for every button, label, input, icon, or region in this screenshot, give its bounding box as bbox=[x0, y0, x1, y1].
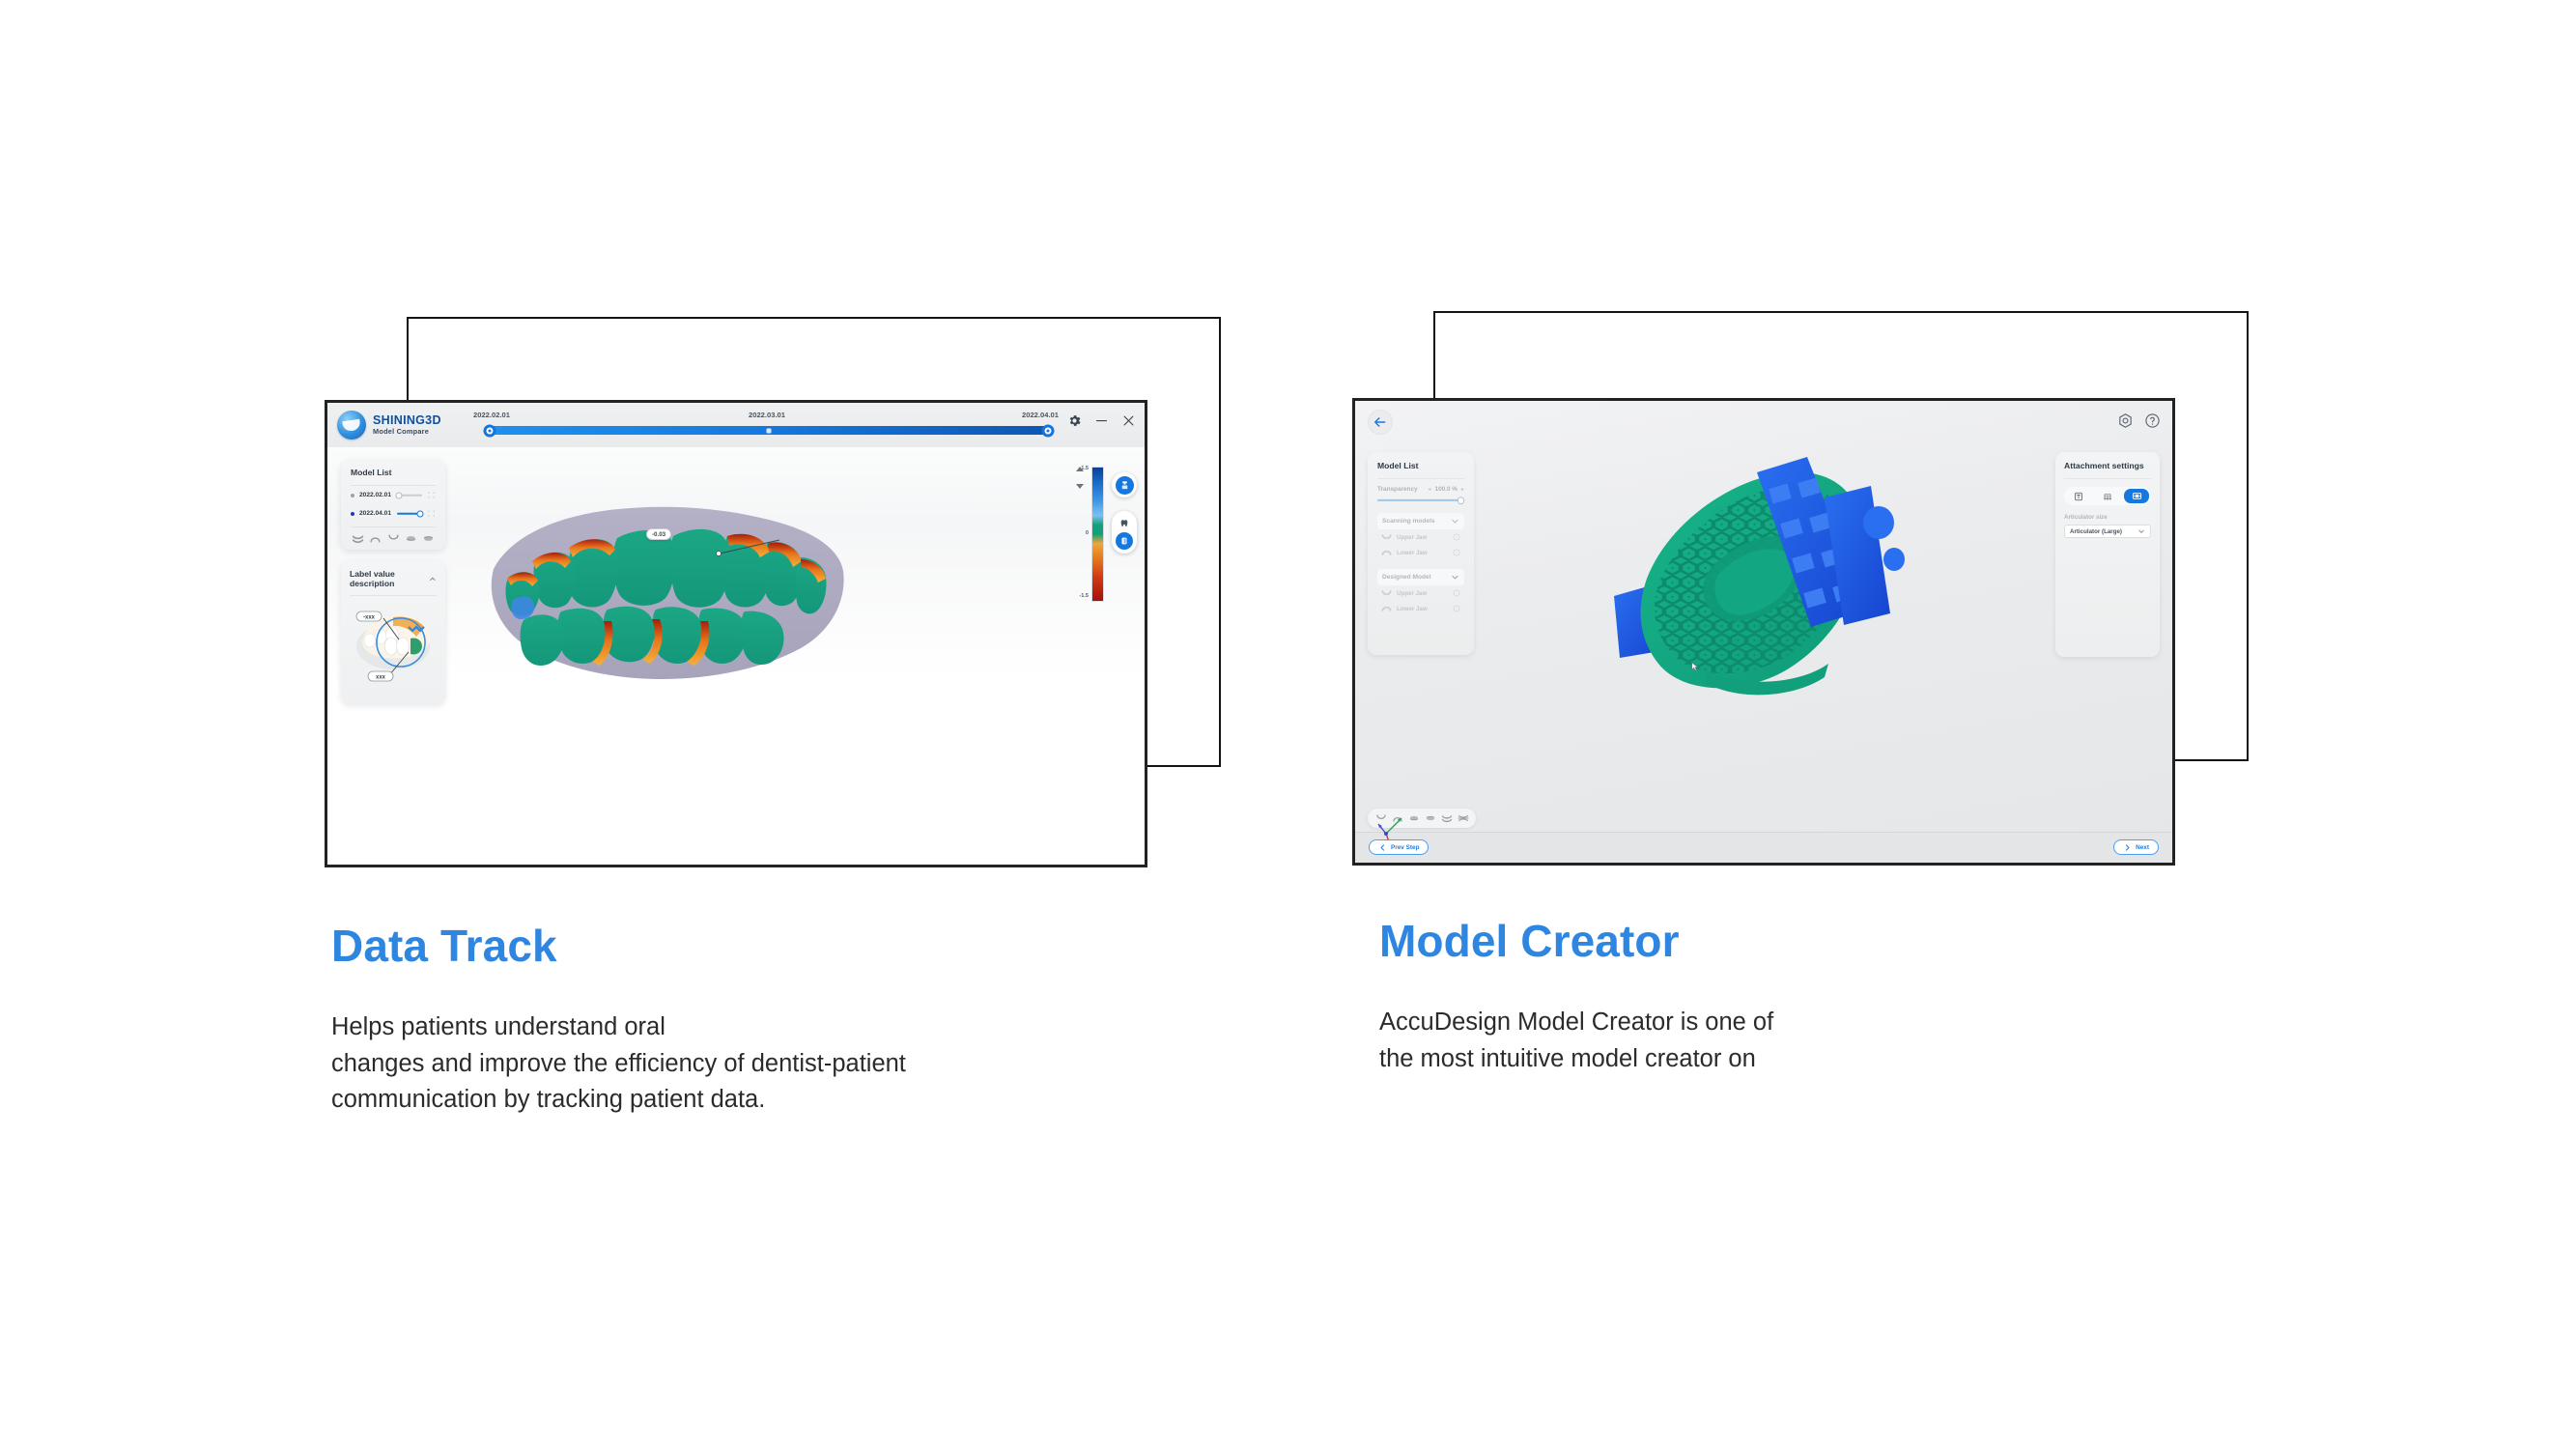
timeline-start-handle[interactable] bbox=[484, 424, 496, 437]
model-creator-viewport: Model List Transparency ◂ 100.0 % ▸ Scan… bbox=[1355, 401, 2172, 863]
both-jaws-icon[interactable] bbox=[352, 533, 364, 544]
description-text: AccuDesign Model Creator is one of the m… bbox=[1379, 1005, 2113, 1077]
measurement-value-tag: -0.03 bbox=[646, 528, 671, 540]
split-view-icon[interactable] bbox=[1458, 813, 1469, 823]
app-viewport: -0.03 Model List 2022.02.01 2022.04.01 bbox=[327, 447, 1145, 865]
timeline-labels: 2022.02.01 2022.03.01 2022.04.01 bbox=[472, 411, 1062, 422]
visibility-icon[interactable] bbox=[1453, 549, 1460, 556]
transparency-label: Transparency bbox=[1377, 486, 1418, 493]
prev-step-label: Prev Step bbox=[1391, 844, 1419, 851]
group-name: Scanning models bbox=[1382, 518, 1435, 525]
transparency-slider[interactable] bbox=[1377, 497, 1464, 504]
tooth-shade-button[interactable] bbox=[1116, 515, 1133, 532]
base-grid-button[interactable] bbox=[2095, 489, 2120, 503]
colorbar-mid-label: 0 bbox=[1086, 530, 1089, 536]
close-icon[interactable] bbox=[1120, 412, 1137, 429]
articulator-icon bbox=[2132, 491, 2142, 501]
brand-name: SHINING3D bbox=[373, 414, 441, 427]
list-item[interactable]: Lower Jaw bbox=[1377, 545, 1464, 560]
base-grid-icon bbox=[2103, 492, 2112, 501]
tooth-compare-icon bbox=[1119, 536, 1129, 546]
back-arrow-icon bbox=[1373, 415, 1387, 429]
app-title-bar: SHINING3D Model Compare 2022.02.01 2022.… bbox=[327, 403, 1145, 447]
top-right-icons bbox=[2117, 412, 2161, 429]
upper-jaw-icon bbox=[1381, 533, 1392, 541]
attachment-mode-group bbox=[2064, 487, 2151, 505]
window-controls bbox=[1066, 412, 1137, 429]
lower-occlusal-icon[interactable] bbox=[1425, 813, 1436, 823]
timeline-end-handle[interactable] bbox=[1042, 424, 1055, 437]
label-plate-icon bbox=[2074, 492, 2083, 501]
timeline-label-1: 2022.03.01 bbox=[749, 411, 785, 419]
help-icon[interactable] bbox=[2144, 412, 2161, 429]
list-item-label: Lower Jaw bbox=[1397, 550, 1448, 556]
timeline-slider[interactable]: 2022.02.01 2022.03.01 2022.04.01 bbox=[472, 403, 1062, 447]
tooth-shade-icon bbox=[1119, 519, 1129, 528]
articulator-size-value: Articulator (Large) bbox=[2070, 528, 2122, 535]
model-list-panel: Model List 2022.02.01 2022.04.01 bbox=[341, 459, 445, 550]
tooth-compare-button[interactable] bbox=[1116, 532, 1133, 550]
chevron-right-icon bbox=[2123, 843, 2132, 852]
chevron-left-icon bbox=[1378, 843, 1387, 852]
visibility-icon[interactable] bbox=[427, 509, 436, 518]
articulator-size-label: Articulator size bbox=[2064, 514, 2151, 521]
back-button[interactable] bbox=[1368, 410, 1393, 435]
model-date: 2022.04.01 bbox=[359, 510, 392, 517]
label-panel-title: Label value description bbox=[350, 569, 429, 588]
svg-text:xxx: xxx bbox=[376, 675, 386, 681]
model-marker-icon bbox=[351, 512, 354, 516]
model-list-row[interactable]: 2022.02.01 bbox=[351, 486, 436, 504]
model-list-row[interactable]: 2022.04.01 bbox=[351, 504, 436, 523]
tooth-measure-icon bbox=[1119, 480, 1130, 491]
chevron-down-icon bbox=[2137, 527, 2145, 535]
timeline-label-2: 2022.04.01 bbox=[1022, 411, 1059, 419]
shining3d-logo-icon bbox=[337, 411, 366, 440]
label-description-illustration: -xxx xxx bbox=[349, 586, 438, 695]
dental-lattice-3d-model[interactable] bbox=[1500, 430, 1906, 720]
jaw-view-toolbar bbox=[351, 526, 436, 544]
visibility-icon[interactable] bbox=[1453, 589, 1460, 597]
viewer-side-toolbar bbox=[1112, 472, 1137, 554]
model-date: 2022.02.01 bbox=[359, 492, 392, 498]
articulator-button[interactable] bbox=[2124, 489, 2149, 503]
visibility-icon[interactable] bbox=[1453, 533, 1460, 541]
colorbar-decrease-icon[interactable] bbox=[1076, 484, 1084, 489]
brand-block: SHINING3D Model Compare bbox=[327, 411, 472, 440]
model-marker-icon bbox=[351, 494, 354, 497]
model-list-title: Model List bbox=[351, 468, 436, 477]
prev-step-button[interactable]: Prev Step bbox=[1369, 839, 1429, 855]
transparency-decrease-icon[interactable]: ◂ bbox=[1429, 486, 1431, 493]
chevron-down-icon bbox=[1451, 517, 1459, 526]
settings-gear-icon[interactable] bbox=[1066, 412, 1083, 429]
model-creator-bottom-bar bbox=[1355, 832, 2172, 863]
caption-data-track: Data Track Helps patients understand ora… bbox=[331, 923, 1201, 1119]
list-item[interactable]: Lower Jaw bbox=[1377, 601, 1464, 616]
settings-icon[interactable] bbox=[2117, 412, 2134, 429]
lower-jaw-icon[interactable] bbox=[387, 533, 400, 544]
colorbar-gradient bbox=[1091, 467, 1104, 602]
chevron-up-icon[interactable] bbox=[429, 575, 437, 583]
svg-text:-xxx: -xxx bbox=[363, 615, 376, 621]
list-item[interactable]: Upper Jaw bbox=[1377, 585, 1464, 601]
label-plate-button[interactable] bbox=[2066, 489, 2091, 503]
page-title: Model Creator bbox=[1379, 918, 2113, 964]
tooth-view-toggle-group bbox=[1112, 511, 1137, 554]
group-name: Designed Model bbox=[1382, 574, 1431, 581]
data-track-app-window: SHINING3D Model Compare 2022.02.01 2022.… bbox=[325, 400, 1147, 867]
articulator-size-select[interactable]: Articulator (Large) bbox=[2064, 525, 2151, 538]
slide-canvas: SHINING3D Model Compare 2022.02.01 2022.… bbox=[0, 0, 2576, 1449]
mouse-cursor-icon bbox=[1691, 662, 1699, 671]
visibility-icon[interactable] bbox=[1453, 605, 1460, 612]
lower-occlusal-icon[interactable] bbox=[422, 533, 435, 544]
timeline-midpoint-marker bbox=[767, 428, 772, 433]
model-list-title: Model List bbox=[1377, 461, 1464, 470]
list-item-label: Lower Jaw bbox=[1397, 606, 1448, 612]
divider bbox=[1377, 478, 1464, 479]
transparency-row: Transparency ◂ 100.0 % ▸ bbox=[1377, 486, 1464, 493]
timeline-track[interactable] bbox=[490, 426, 1048, 435]
model-opacity-slider[interactable] bbox=[397, 491, 422, 499]
next-button[interactable]: Next bbox=[2113, 839, 2159, 855]
model-creator-top-bar bbox=[1355, 401, 2172, 443]
brand-subtitle: Model Compare bbox=[373, 428, 441, 436]
upper-jaw-icon bbox=[1381, 589, 1392, 597]
label-value-description-panel: Label value description bbox=[341, 561, 445, 704]
caption-model-creator: Model Creator AccuDesign Model Creator i… bbox=[1379, 918, 2113, 1077]
page-title: Data Track bbox=[331, 923, 1201, 969]
tooth-measure-button[interactable] bbox=[1112, 472, 1137, 497]
group-header-scanning-models[interactable]: Scanning models bbox=[1377, 513, 1464, 529]
minimize-icon[interactable] bbox=[1093, 412, 1110, 429]
transparency-increase-icon[interactable]: ▸ bbox=[1461, 486, 1464, 493]
model-creator-app-window: Model List Transparency ◂ 100.0 % ▸ Scan… bbox=[1352, 398, 2175, 866]
attachment-settings-panel: Attachment settings bbox=[2055, 452, 2160, 657]
list-item-label: Upper Jaw bbox=[1397, 534, 1448, 541]
model-opacity-slider[interactable] bbox=[397, 509, 422, 518]
dental-heatmap-3d-model[interactable] bbox=[472, 494, 859, 687]
timeline-label-0: 2022.02.01 bbox=[473, 411, 510, 419]
visibility-icon[interactable] bbox=[427, 491, 436, 499]
transparency-value: 100.0 % bbox=[1435, 486, 1458, 493]
attachment-settings-title: Attachment settings bbox=[2064, 461, 2151, 470]
both-jaws-icon[interactable] bbox=[1441, 813, 1453, 823]
group-header-designed-model[interactable]: Designed Model bbox=[1377, 569, 1464, 585]
next-label: Next bbox=[2136, 844, 2149, 851]
colorbar-min-label: -1.5 bbox=[1079, 593, 1089, 599]
colorbar-max-label: 1.5 bbox=[1081, 466, 1089, 471]
chevron-down-icon bbox=[1451, 573, 1459, 582]
list-item[interactable]: Upper Jaw bbox=[1377, 529, 1464, 545]
model-creator-model-list-panel: Model List Transparency ◂ 100.0 % ▸ Scan… bbox=[1368, 452, 1474, 655]
upper-jaw-icon[interactable] bbox=[369, 533, 382, 544]
lower-jaw-icon bbox=[1381, 549, 1392, 556]
list-item-label: Upper Jaw bbox=[1397, 590, 1448, 597]
upper-occlusal-icon[interactable] bbox=[405, 533, 417, 544]
deviation-colorbar[interactable]: 1.5 0 -1.5 bbox=[1073, 461, 1104, 606]
description-text: Helps patients understand oral changes a… bbox=[331, 1009, 1201, 1118]
lower-jaw-icon bbox=[1381, 605, 1392, 612]
divider bbox=[2064, 478, 2151, 479]
